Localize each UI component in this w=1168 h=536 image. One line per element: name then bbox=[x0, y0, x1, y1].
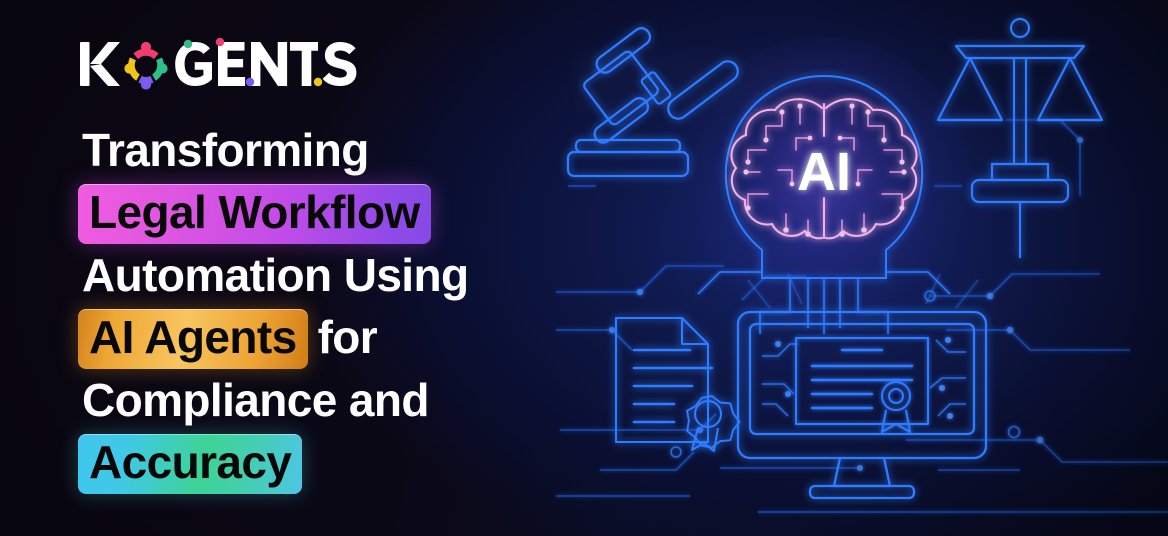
hero-content: Transforming Legal Workflow Automation U… bbox=[78, 34, 578, 499]
headline-line-1: Transforming bbox=[78, 124, 578, 179]
headline-line-6: Accuracy bbox=[78, 434, 578, 494]
headline-line-5: Compliance and bbox=[78, 374, 578, 429]
highlight-legal-workflow: Legal Workflow bbox=[78, 184, 431, 244]
kogents-logo-svg bbox=[78, 36, 318, 94]
highlight-accuracy: Accuracy bbox=[78, 434, 302, 494]
headline-line-4-tail: for bbox=[318, 311, 378, 363]
page-title: Transforming Legal Workflow Automation U… bbox=[78, 124, 578, 494]
logo-letter-s bbox=[314, 36, 374, 94]
brain-ai-label: AI bbox=[797, 142, 851, 202]
brand-logo[interactable] bbox=[78, 34, 578, 96]
headline-line-3: Automation Using bbox=[78, 249, 578, 304]
people-circle-icon bbox=[124, 42, 167, 90]
highlight-ai-agents: AI Agents bbox=[78, 309, 308, 369]
award-seal-icon bbox=[687, 396, 739, 451]
hero-illustration: AI bbox=[556, 0, 1168, 536]
headline-line-4: AI Agentsfor bbox=[78, 309, 578, 369]
logo-letter-k bbox=[80, 42, 120, 86]
headline-line-2: Legal Workflow bbox=[78, 184, 578, 244]
banner-hero: Transforming Legal Workflow Automation U… bbox=[0, 0, 1168, 536]
certificate-document-icon bbox=[616, 318, 740, 451]
